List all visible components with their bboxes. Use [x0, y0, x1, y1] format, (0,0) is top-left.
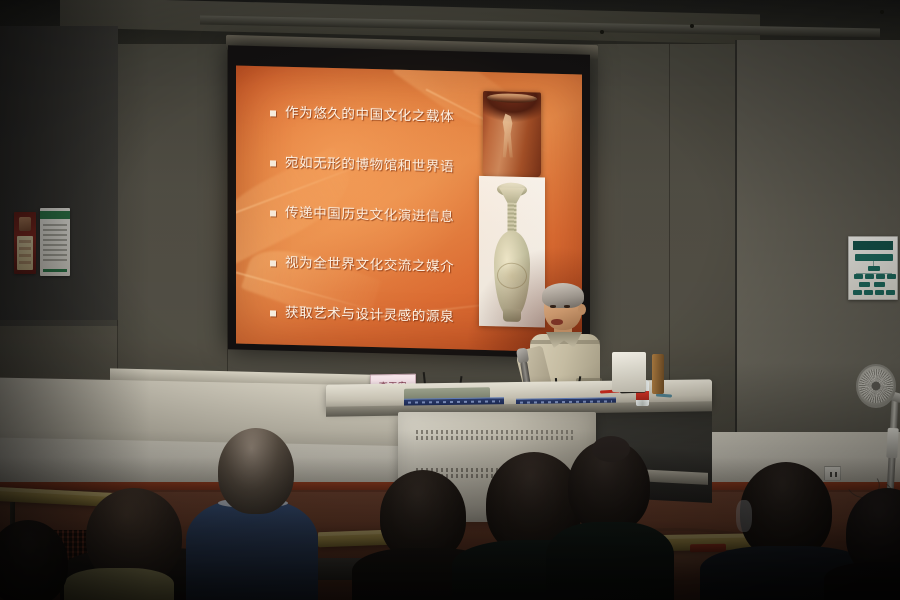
poster-footer-bar [43, 269, 67, 272]
org-chart-node [859, 282, 870, 287]
bullet-square-icon [270, 210, 276, 216]
bullet-square-icon [270, 160, 276, 166]
attendee-shoulders [546, 522, 674, 600]
slide-bullet-item: 宛如无形的博物馆和世界语 [270, 138, 500, 194]
phone-on-desk[interactable] [690, 544, 726, 553]
ceiling-fixture-dot [690, 24, 694, 28]
vase-neck [508, 203, 517, 233]
presenter-hair [542, 283, 584, 308]
poster-text-line [43, 229, 67, 231]
org-chart-node [865, 274, 874, 279]
poster-red-body [17, 236, 33, 270]
org-chart-node [887, 274, 896, 279]
bullet-square-icon [270, 110, 276, 116]
org-chart-node [854, 274, 863, 279]
left-wall-return [0, 26, 118, 326]
wooden-object [652, 354, 664, 394]
presenter-ear [578, 304, 586, 315]
poster-text-line [43, 249, 67, 251]
ceiling-fixture-dot [600, 30, 604, 34]
attendee-head [218, 428, 294, 514]
presenter-eye [564, 305, 570, 308]
poster-org-chart [848, 236, 898, 300]
poster-red-portrait [14, 212, 36, 274]
ceiling-fixture-dot [880, 10, 884, 14]
fan-hub [872, 382, 881, 391]
org-chart-title-bar [853, 241, 893, 250]
attendee-hair-bun [592, 436, 630, 462]
wall-socket[interactable] [824, 466, 841, 481]
attendee-shoulders [186, 500, 318, 600]
deer-motif [497, 113, 519, 158]
slide-bullet-item: 作为悠久的中国文化之载体 [270, 88, 500, 144]
slide-bullet-text: 视为全世界文化交流之媒介 [285, 257, 454, 275]
poster-header-bar [40, 211, 70, 219]
poster-text-line [43, 239, 67, 241]
attendee-shoulders [824, 562, 900, 600]
presenter-mouth [551, 319, 563, 325]
podium-vent [416, 430, 576, 434]
fan-head [856, 364, 896, 408]
lecture-hall-photo: 作为悠久的中国文化之载体 宛如无形的博物馆和世界语 传递中国历史文化演进信息 视… [0, 0, 900, 600]
podium-vent [416, 436, 576, 440]
paper-stack [612, 352, 646, 392]
org-chart-node [886, 290, 895, 295]
slide-bullet-text: 传递中国历史文化演进信息 [285, 207, 454, 225]
fan-control-panel[interactable] [886, 428, 899, 459]
slide-image-painted-pottery-vessel [483, 91, 541, 178]
slide-bullet-text: 获取艺术与设计灵感的源泉 [285, 307, 454, 325]
bullet-square-icon [270, 310, 276, 316]
slide-bullet-text: 作为悠久的中国文化之载体 [285, 107, 454, 125]
org-chart-node [853, 290, 862, 295]
poster-text-line [43, 234, 67, 236]
presenter-eye [550, 305, 556, 308]
poster-portrait-photo [19, 217, 31, 231]
org-chart-node [868, 266, 880, 271]
org-chart-node [876, 274, 885, 279]
org-chart-node [874, 282, 885, 287]
slide-bullet-item: 传递中国历史文化演进信息 [270, 188, 500, 244]
org-chart-node [864, 290, 873, 295]
org-chart-node [875, 290, 884, 295]
attendee-glasses-icon [736, 500, 752, 532]
poster-text-line [43, 244, 67, 246]
org-chart-node [855, 254, 893, 261]
vase-cup [499, 187, 525, 204]
attendee-shoulders [64, 568, 174, 600]
slide-bullet-text: 宛如无形的博物馆和世界语 [285, 157, 454, 175]
poster-text-line [43, 254, 67, 256]
poster-text-line [43, 259, 67, 261]
poster-white-green [40, 208, 70, 276]
bullet-square-icon [270, 260, 276, 266]
poster-text-line [43, 224, 67, 226]
